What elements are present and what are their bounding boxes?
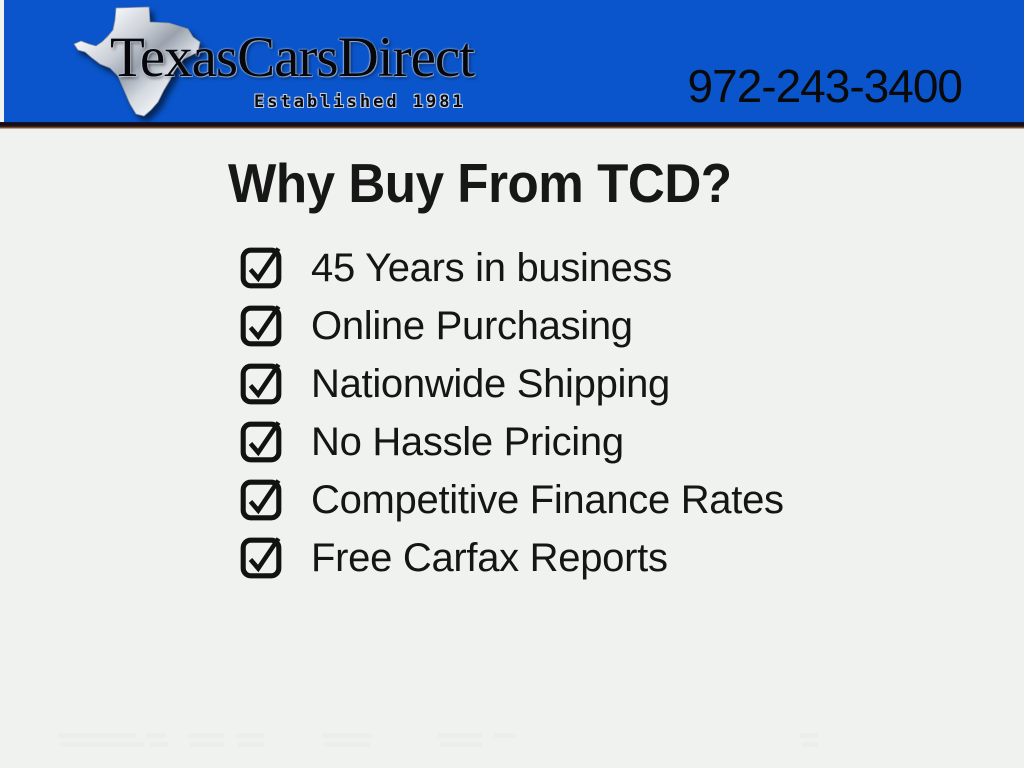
list-item: Competitive Finance Rates bbox=[240, 471, 784, 529]
ghost-artifact bbox=[494, 733, 516, 738]
list-item: 45 Years in business bbox=[240, 239, 784, 297]
list-item-label: No Hassle Pricing bbox=[311, 422, 624, 462]
ghost-artifact bbox=[800, 733, 818, 738]
checkbox-checked-icon bbox=[240, 247, 282, 289]
page-title: Why Buy From TCD? bbox=[228, 151, 732, 215]
ghost-artifact bbox=[236, 733, 264, 738]
checkbox-checked-icon bbox=[240, 421, 282, 463]
list-item: Nationwide Shipping bbox=[240, 355, 784, 413]
ghost-artifact bbox=[324, 742, 370, 747]
ghost-artifact bbox=[440, 742, 482, 747]
benefits-list: 45 Years in business Online Purchasing N… bbox=[240, 239, 784, 587]
phone-number[interactable]: 972-243-3400 bbox=[688, 59, 962, 113]
ghost-artifact bbox=[438, 733, 482, 738]
checkbox-checked-icon bbox=[240, 537, 282, 579]
ghost-artifact bbox=[238, 742, 264, 747]
ghost-artifact bbox=[322, 733, 372, 738]
ghost-artifact bbox=[58, 733, 136, 738]
ghost-artifact bbox=[146, 733, 166, 738]
left-edge-strip bbox=[0, 0, 4, 122]
list-item-label: Nationwide Shipping bbox=[311, 364, 670, 404]
list-item: No Hassle Pricing bbox=[240, 413, 784, 471]
ghost-artifact bbox=[150, 742, 168, 747]
brand-logo[interactable]: TexasCarsDirect Established 1981 bbox=[72, 6, 502, 118]
content-area: Why Buy From TCD? 45 Years in business O… bbox=[0, 129, 1024, 768]
list-item-label: Online Purchasing bbox=[311, 306, 633, 346]
checkbox-checked-icon bbox=[240, 305, 282, 347]
list-item-label: 45 Years in business bbox=[311, 248, 672, 288]
header-divider bbox=[0, 122, 1024, 129]
ghost-artifact bbox=[190, 742, 224, 747]
list-item-label: Competitive Finance Rates bbox=[311, 480, 784, 520]
list-item: Free Carfax Reports bbox=[240, 529, 784, 587]
checkbox-checked-icon bbox=[240, 479, 282, 521]
brand-tagline: Established 1981 bbox=[254, 92, 466, 112]
header-bar: TexasCarsDirect Established 1981 972-243… bbox=[0, 0, 1024, 122]
list-item: Online Purchasing bbox=[240, 297, 784, 355]
ghost-artifact bbox=[188, 733, 224, 738]
checkbox-checked-icon bbox=[240, 363, 282, 405]
ghost-artifact bbox=[802, 742, 818, 747]
list-item-label: Free Carfax Reports bbox=[311, 538, 668, 578]
brand-wordmark: TexasCarsDirect bbox=[110, 29, 474, 86]
ghost-artifact bbox=[60, 742, 144, 747]
